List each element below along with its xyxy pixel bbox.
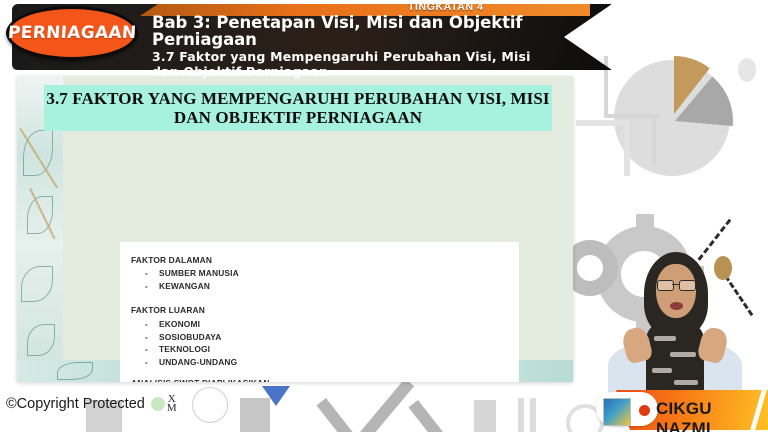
eyeglasses-icon — [657, 280, 674, 291]
garment-pattern — [652, 368, 672, 373]
slide-content-card: FAKTOR DALAMAN - SUMBER MANUSIA - KEWANG… — [120, 242, 519, 382]
zigzag-line — [360, 378, 414, 432]
list-item: - TEKNOLOGI — [131, 345, 519, 353]
gear-tooth — [636, 214, 654, 230]
list-item-label: SOSIOBUDAYA — [159, 333, 221, 341]
presenter-name: CIKGU NAZMI — [656, 399, 768, 432]
leaf-icon — [21, 266, 53, 302]
background-stripe — [474, 400, 496, 432]
subject-badge: PERNIAGAAN — [6, 6, 138, 60]
form-label: TINGKATAN 4 — [408, 1, 484, 13]
copyright-text: ©Copyright Protected — [6, 396, 145, 412]
leaf-icon — [57, 362, 93, 380]
background-stripe — [530, 398, 536, 432]
presenter-mouth — [670, 302, 683, 310]
background-stripe — [518, 398, 524, 432]
list-item-label: TEKNOLOGI — [159, 345, 210, 353]
record-dot-icon — [639, 405, 650, 416]
background-panel — [624, 120, 630, 176]
header-subtitle-line-2: dan Objektif Perniagaan — [152, 64, 592, 80]
eyeglasses-icon — [679, 280, 696, 291]
list-item-label: EKONOMI — [159, 320, 200, 328]
watermark-monogram: X M — [167, 395, 177, 414]
garment-pattern — [654, 336, 676, 341]
copyright-area: ©Copyright Protected X M — [6, 395, 177, 414]
connector-line — [652, 118, 656, 164]
list-item: - EKONOMI — [131, 320, 519, 328]
garment-pattern — [674, 380, 698, 385]
pie-chart-watermark — [614, 60, 730, 176]
bullet-dash: - — [145, 358, 159, 366]
garment-pattern — [670, 352, 696, 357]
slide-title-bar: 3.7 FAKTOR YANG MEMPENGARUHI PERUBAHAN V… — [44, 85, 552, 131]
slide-title: 3.7 FAKTOR YANG MEMPENGARUHI PERUBAHAN V… — [44, 89, 552, 127]
bullet-dash: - — [145, 269, 159, 277]
slide-content-body: FAKTOR DALAMAN - SUMBER MANUSIA - KEWANG… — [120, 242, 519, 382]
presenter-nametag: CIKGU NAZMI — [596, 390, 768, 430]
triangle-marker — [262, 386, 290, 406]
list-item-label: KEWANGAN — [159, 282, 210, 290]
dot-decoration — [738, 58, 756, 82]
bullet-dash: - — [145, 333, 159, 341]
list-item: - KEWANGAN — [131, 282, 519, 290]
swot-note: ANALISIS SWOT DIAPLIKASIKAN — [131, 379, 519, 382]
bullet-dash: - — [145, 282, 159, 290]
channel-logo-icon — [603, 398, 631, 426]
header-title-block: Bab 3: Penetapan Visi, Misi dan Objektif… — [152, 14, 592, 80]
list-item: - SOSIOBUDAYA — [131, 333, 519, 341]
leaf-icon — [23, 130, 53, 176]
list-item-label: UNDANG-UNDANG — [159, 358, 237, 366]
list-item-label: SUMBER MANUSIA — [159, 269, 239, 277]
zigzag-line — [409, 400, 462, 432]
chapter-title: Bab 3: Penetapan Visi, Misi dan Objektif… — [152, 14, 592, 49]
list-item: - UNDANG-UNDANG — [131, 358, 519, 366]
watermark-monogram-bottom: M — [167, 402, 177, 414]
subject-badge-label: PERNIAGAAN — [7, 23, 137, 43]
bullet-dash: - — [145, 345, 159, 353]
header-subtitle-line-1: 3.7 Faktor yang Mempengaruhi Perubahan V… — [152, 49, 592, 65]
presentation-screenshot: TINGKATAN 4 PERNIAGAAN Bab 3: Penetapan … — [0, 0, 768, 432]
copyright-badge-icon — [151, 397, 165, 411]
bullet-dash: - — [145, 320, 159, 328]
nametag-logo-pill — [596, 392, 658, 426]
eyeglasses-bridge — [672, 284, 679, 285]
slide-canvas: 3.7 FAKTOR YANG MEMPENGARUHI PERUBAHAN V… — [17, 76, 573, 382]
list-item: - SUMBER MANUSIA — [131, 269, 519, 277]
watermark-ring-icon — [192, 387, 228, 423]
presenter-video-overlay — [600, 236, 750, 396]
background-panel — [576, 120, 630, 126]
group-heading-dalaman: FAKTOR DALAMAN — [131, 256, 519, 264]
zigzag-line — [317, 398, 370, 432]
group-heading-luaran: FAKTOR LUARAN — [131, 306, 519, 314]
leaf-icon — [27, 324, 55, 356]
